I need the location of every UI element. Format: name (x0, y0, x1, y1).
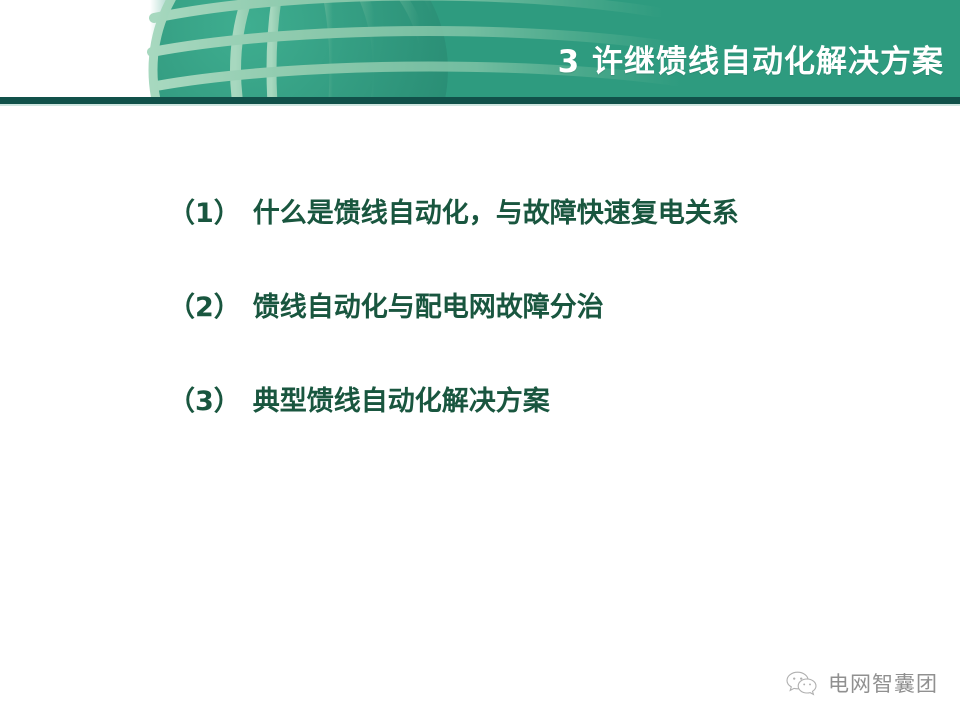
slide-body: （1）什么是馈线自动化，与故障快速复电关系 （2）馈线自动化与配电网故障分治 （… (0, 106, 960, 720)
slide-header: 3 许继馈线自动化解决方案 (0, 0, 960, 97)
agenda-item-index: （1） (168, 198, 241, 230)
list-item[interactable]: （2）馈线自动化与配电网故障分治 (168, 292, 928, 324)
list-item[interactable]: （3）典型馈线自动化解决方案 (168, 386, 928, 418)
list-item[interactable]: （1）什么是馈线自动化，与故障快速复电关系 (168, 198, 928, 230)
header-divider-rule (0, 97, 960, 104)
agenda-item-index: （2） (168, 292, 241, 324)
watermark: 电网智囊团 (785, 670, 938, 698)
agenda-item-index: （3） (168, 386, 241, 418)
agenda-item-label: 什么是馈线自动化，与故障快速复电关系 (253, 198, 739, 230)
wechat-icon (785, 670, 819, 698)
agenda-list: （1）什么是馈线自动化，与故障快速复电关系 （2）馈线自动化与配电网故障分治 （… (168, 198, 928, 418)
agenda-item-label: 典型馈线自动化解决方案 (253, 386, 550, 418)
watermark-label: 电网智囊团 (828, 674, 938, 695)
agenda-item-label: 馈线自动化与配电网故障分治 (253, 292, 604, 324)
page-title: 3 许继馈线自动化解决方案 (558, 47, 944, 78)
slide: 3 许继馈线自动化解决方案 （1）什么是馈线自动化，与故障快速复电关系 （2）馈… (0, 0, 960, 720)
